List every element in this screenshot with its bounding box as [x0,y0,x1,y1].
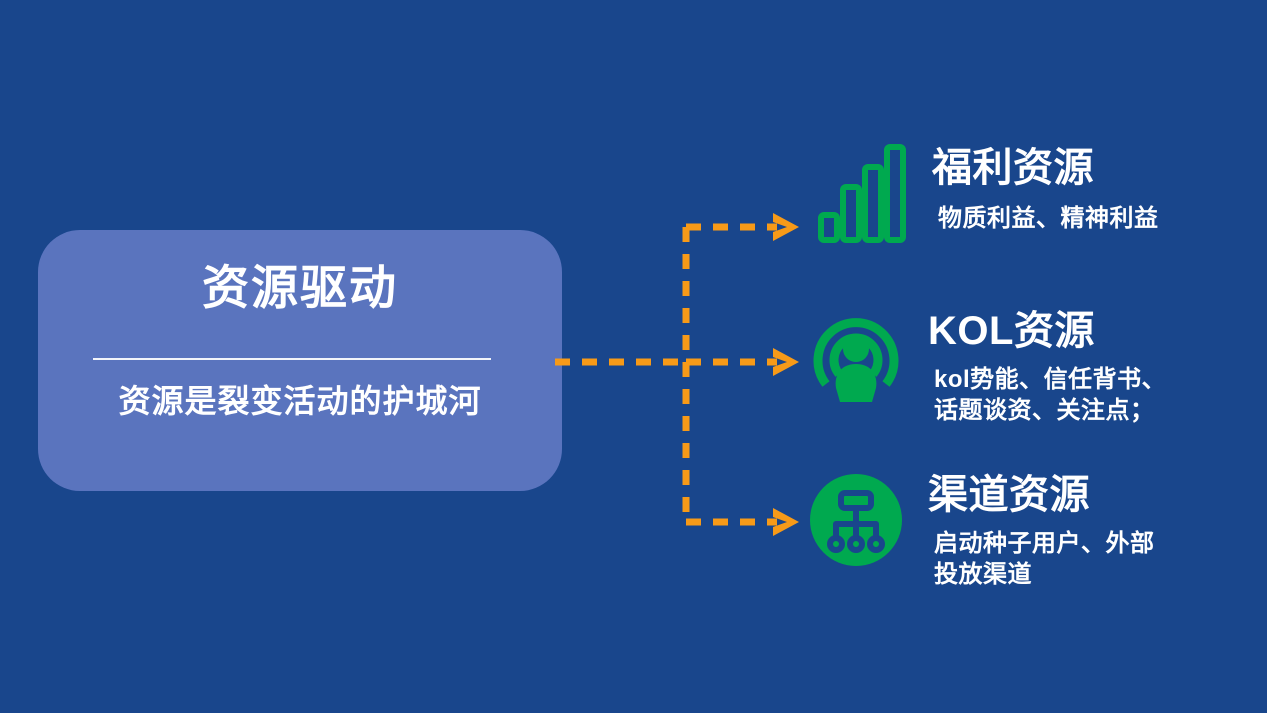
branch-title: KOL资源 [928,310,1166,353]
card-divider [93,358,491,360]
branch-text-block: 福利资源 物质利益、精神利益 [932,143,1159,235]
branch-desc-line: kol势能、信任背书、 [934,365,1166,396]
branch-text-block: 渠道资源 启动种子用户、外部 投放渠道 [928,470,1155,591]
branch-desc-line: 启动种子用户、外部 [934,529,1155,560]
slide-canvas: 资源驱动 资源是裂变活动的护城河 [0,0,1267,713]
podcast-broadcast-icon [806,306,906,406]
branch-desc-line: 投放渠道 [934,560,1155,591]
card-title: 资源驱动 [38,262,562,314]
branch-desc-line: 物质利益、精神利益 [938,204,1159,235]
bar-chart-icon [812,143,912,243]
branch-item-welfare-resources: 福利资源 物质利益、精神利益 [812,143,1159,243]
branch-desc: kol势能、信任背书、 话题谈资、关注点； [934,365,1166,426]
card-subtitle: 资源是裂变活动的护城河 [38,382,562,420]
branch-text-block: KOL资源 kol势能、信任背书、 话题谈资、关注点； [928,306,1166,427]
branch-title: 福利资源 [932,147,1159,190]
main-concept-card: 资源驱动 资源是裂变活动的护城河 [38,230,562,491]
branch-desc: 物质利益、精神利益 [938,204,1159,235]
branch-desc: 启动种子用户、外部 投放渠道 [934,529,1155,590]
arrowhead-group [773,213,799,536]
dashed-connector-arrows [555,205,805,545]
branch-desc-line: 话题谈资、关注点； [934,396,1166,427]
branch-item-kol-resources: KOL资源 kol势能、信任背书、 话题谈资、关注点； [806,306,1166,427]
branch-item-channel-resources: 渠道资源 启动种子用户、外部 投放渠道 [806,470,1155,591]
sitemap-channel-icon [806,470,906,570]
branch-title: 渠道资源 [928,474,1155,517]
